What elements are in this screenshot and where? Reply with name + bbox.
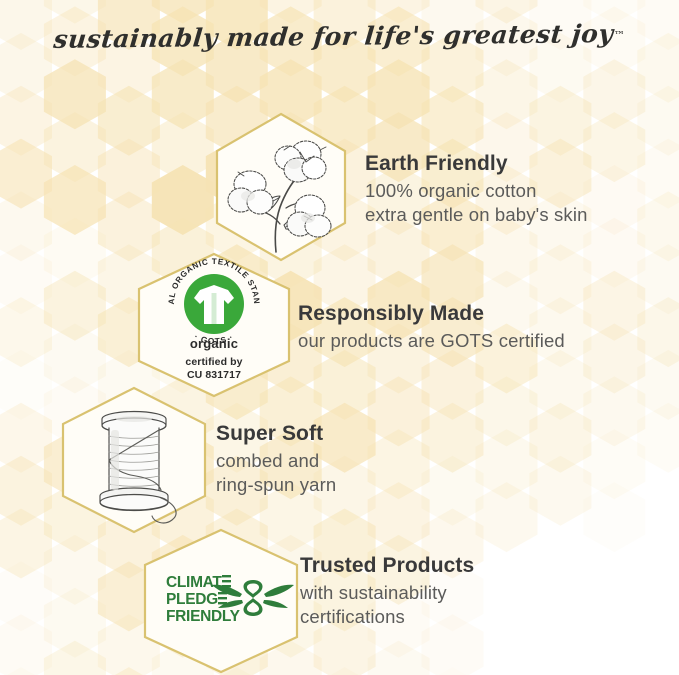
hexagon-frame-earth-friendly [214,112,348,262]
hexagon-frame-trusted-products: CLIMAT PLEDG FRIENDLY [142,528,300,674]
feature-earth-friendly: Earth Friendly 100% organic cotton extra… [365,152,588,228]
honeycomb-cell [0,244,52,314]
honeycomb-cell [44,59,106,129]
feature-line: ring-spun yarn [216,473,336,497]
honeycomb-cell [637,139,679,209]
headline: sustainably made for life's greatest joy… [0,22,679,51]
honeycomb-cell [476,59,538,129]
honeycomb-cell [44,588,106,658]
honeycomb-cell [583,112,645,182]
honeycomb-cell [476,429,538,499]
feature-title: Super Soft [216,422,336,447]
honeycomb-cell [583,482,645,552]
honeycomb-cell [583,165,645,235]
honeycomb-cell [44,641,106,675]
honeycomb-cell [44,165,106,235]
honeycomb-cell [368,641,430,675]
honeycomb-cell [529,350,591,420]
honeycomb-cell [368,429,430,499]
feature-line: certifications [300,605,474,629]
honeycomb-cell [0,191,52,261]
honeycomb-cell [422,403,484,473]
feature-line: combed and [216,449,336,473]
feature-line: extra gentle on baby's skin [365,203,588,227]
feature-line: 100% organic cotton [365,179,588,203]
honeycomb-cell [44,218,106,288]
honeycomb-cell [260,0,322,24]
honeycomb-cell [422,667,484,675]
honeycomb-cell [314,350,376,420]
feature-title: Earth Friendly [365,152,588,177]
feature-title: Trusted Products [300,554,474,579]
honeycomb-cell [637,403,679,473]
honeycomb-cell [98,86,160,156]
honeycomb-cell [583,59,645,129]
honeycomb-cell [152,165,214,235]
honeycomb-cell [98,139,160,209]
honeycomb-cell [368,376,430,446]
honeycomb-cell [314,667,376,675]
honeycomb-cell [44,0,106,24]
honeycomb-cell [637,244,679,314]
honeycomb-cell [44,112,106,182]
headline-text: sustainably made for life's greatest joy [52,19,614,54]
cpf-line-2: PLEDG [166,591,218,608]
honeycomb-cell [44,271,106,341]
honeycomb-cell [368,482,430,552]
honeycomb-cell [0,350,52,420]
honeycomb-cell [529,86,591,156]
honeycomb-cell [637,297,679,367]
honeycomb-cell [422,456,484,526]
honeycomb-cell [368,218,430,288]
cpf-line-1: CLIMAT [166,574,222,591]
honeycomb-cell [0,297,52,367]
honeycomb-cell [0,509,52,579]
honeycomb-cell [0,403,52,473]
hexagon-frame-super-soft [60,386,208,534]
honeycomb-cell [583,324,645,394]
honeycomb-cell [0,86,52,156]
honeycomb-cell [0,614,52,675]
feature-title: Responsibly Made [298,302,565,327]
gots-certified-by-label: certified by [136,356,292,369]
honeycomb-cell [476,376,538,446]
feature-trusted-products: Trusted Products with sustainability cer… [300,554,474,630]
honeycomb-cell [476,482,538,552]
feature-line: with sustainability [300,581,474,605]
honeycomb-cell [637,86,679,156]
honeycomb-cell [476,218,538,288]
honeycomb-cell [0,139,52,209]
honeycomb-cell [422,350,484,420]
infographic-root: sustainably made for life's greatest joy… [0,0,679,675]
feature-line: our products are GOTS certified [298,329,565,353]
honeycomb-cell [98,191,160,261]
gots-organic-label: organic [136,336,292,351]
gots-certificate-code: CU 831717 [136,369,292,382]
feature-responsibly-made: Responsibly Made our products are GOTS c… [298,302,565,353]
honeycomb-cell [368,0,430,24]
honeycomb-cell [0,667,52,675]
honeycomb-cell [637,191,679,261]
honeycomb-cell [152,0,214,24]
trademark-symbol: ™ [614,29,625,42]
honeycomb-cell [44,535,106,605]
cpf-line-3: FRIENDLY [166,608,241,625]
gots-caption: organic certified by CU 831717 [136,336,292,382]
honeycomb-cell [583,271,645,341]
honeycomb-cell [152,59,214,129]
honeycomb-cell [368,59,430,129]
honeycomb-cell [583,429,645,499]
honeycomb-cell [152,112,214,182]
honeycomb-cell [529,456,591,526]
honeycomb-cell [0,561,52,631]
honeycomb-cell [0,456,52,526]
feature-super-soft: Super Soft combed and ring-spun yarn [216,422,336,498]
honeycomb-cell [529,403,591,473]
honeycomb-cell [583,218,645,288]
honeycomb-cell [422,86,484,156]
honeycomb-cell [44,324,106,394]
honeycomb-cell [637,350,679,420]
honeycomb-cell [583,376,645,446]
